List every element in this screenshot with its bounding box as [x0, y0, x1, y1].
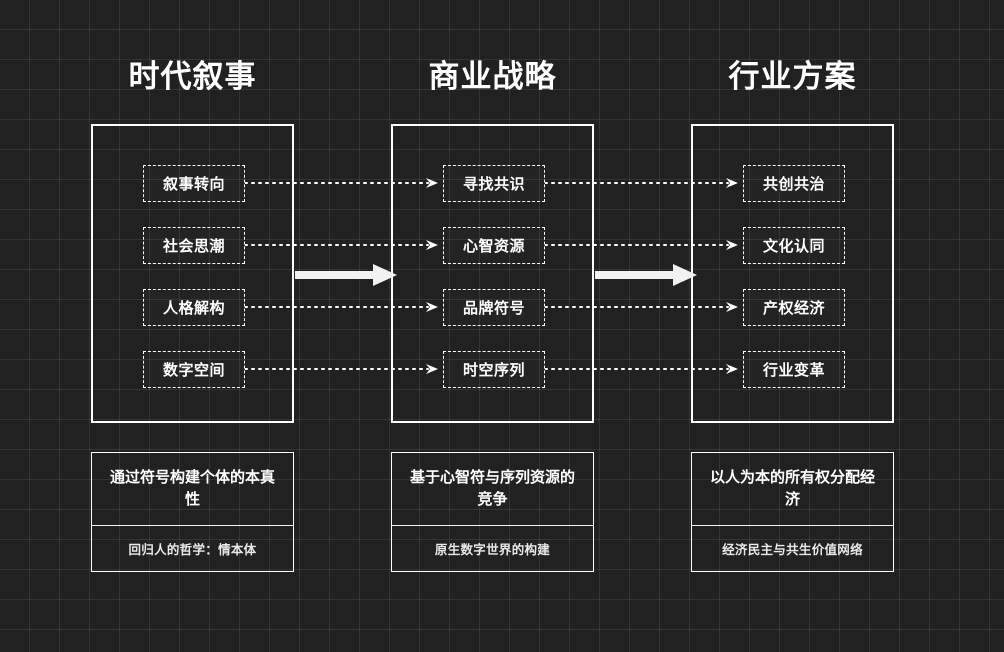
item-box-1-3[interactable]: 人格解构 [143, 289, 245, 326]
dotted-connector-1-4-icon [245, 363, 438, 375]
summary-card-sub-3: 经济民主与共生价值网络 [692, 526, 893, 571]
item-box-1-1[interactable]: 叙事转向 [143, 165, 245, 202]
column-title-2: 商业战略 [391, 62, 594, 93]
dotted-connector-2-3-icon [545, 301, 738, 313]
dotted-connector-1-1-icon [245, 177, 438, 189]
dotted-connector-2-1-icon [545, 177, 738, 189]
arrow-stage1-to-stage2-icon [295, 264, 397, 286]
diagram-canvas: 时代叙事 叙事转向 社会思潮 人格解构 数字空间 通过符号构建个体的本真性 回归… [0, 0, 1004, 652]
summary-card-divider-2 [392, 525, 593, 526]
item-box-3-1[interactable]: 共创共治 [743, 165, 845, 202]
item-box-1-2[interactable]: 社会思潮 [143, 227, 245, 264]
summary-card-sub-1: 回归人的哲学：情本体 [92, 526, 293, 571]
summary-card-main-2: 基于心智符与序列资源的竞争 [392, 453, 593, 525]
item-box-2-2[interactable]: 心智资源 [443, 227, 545, 264]
summary-card-divider-1 [92, 525, 293, 526]
summary-card-1: 通过符号构建个体的本真性 回归人的哲学：情本体 [91, 452, 294, 572]
summary-card-divider-3 [692, 525, 893, 526]
summary-card-main-3: 以人为本的所有权分配经济 [692, 453, 893, 525]
item-box-3-4[interactable]: 行业变革 [743, 351, 845, 388]
summary-card-main-1: 通过符号构建个体的本真性 [92, 453, 293, 525]
item-box-2-1[interactable]: 寻找共识 [443, 165, 545, 202]
column-title-1: 时代叙事 [91, 62, 294, 93]
column-title-3: 行业方案 [691, 62, 894, 93]
dotted-connector-2-4-icon [545, 363, 738, 375]
item-box-3-2[interactable]: 文化认同 [743, 227, 845, 264]
summary-card-2: 基于心智符与序列资源的竞争 原生数字世界的构建 [391, 452, 594, 572]
arrow-stage2-to-stage3-icon [595, 264, 697, 286]
dotted-connector-1-3-icon [245, 301, 438, 313]
item-box-1-4[interactable]: 数字空间 [143, 351, 245, 388]
dotted-connector-2-2-icon [545, 239, 738, 251]
item-box-3-3[interactable]: 产权经济 [743, 289, 845, 326]
item-box-2-4[interactable]: 时空序列 [443, 351, 545, 388]
dotted-connector-1-2-icon [245, 239, 438, 251]
summary-card-3: 以人为本的所有权分配经济 经济民主与共生价值网络 [691, 452, 894, 572]
item-box-2-3[interactable]: 品牌符号 [443, 289, 545, 326]
summary-card-sub-2: 原生数字世界的构建 [392, 526, 593, 571]
